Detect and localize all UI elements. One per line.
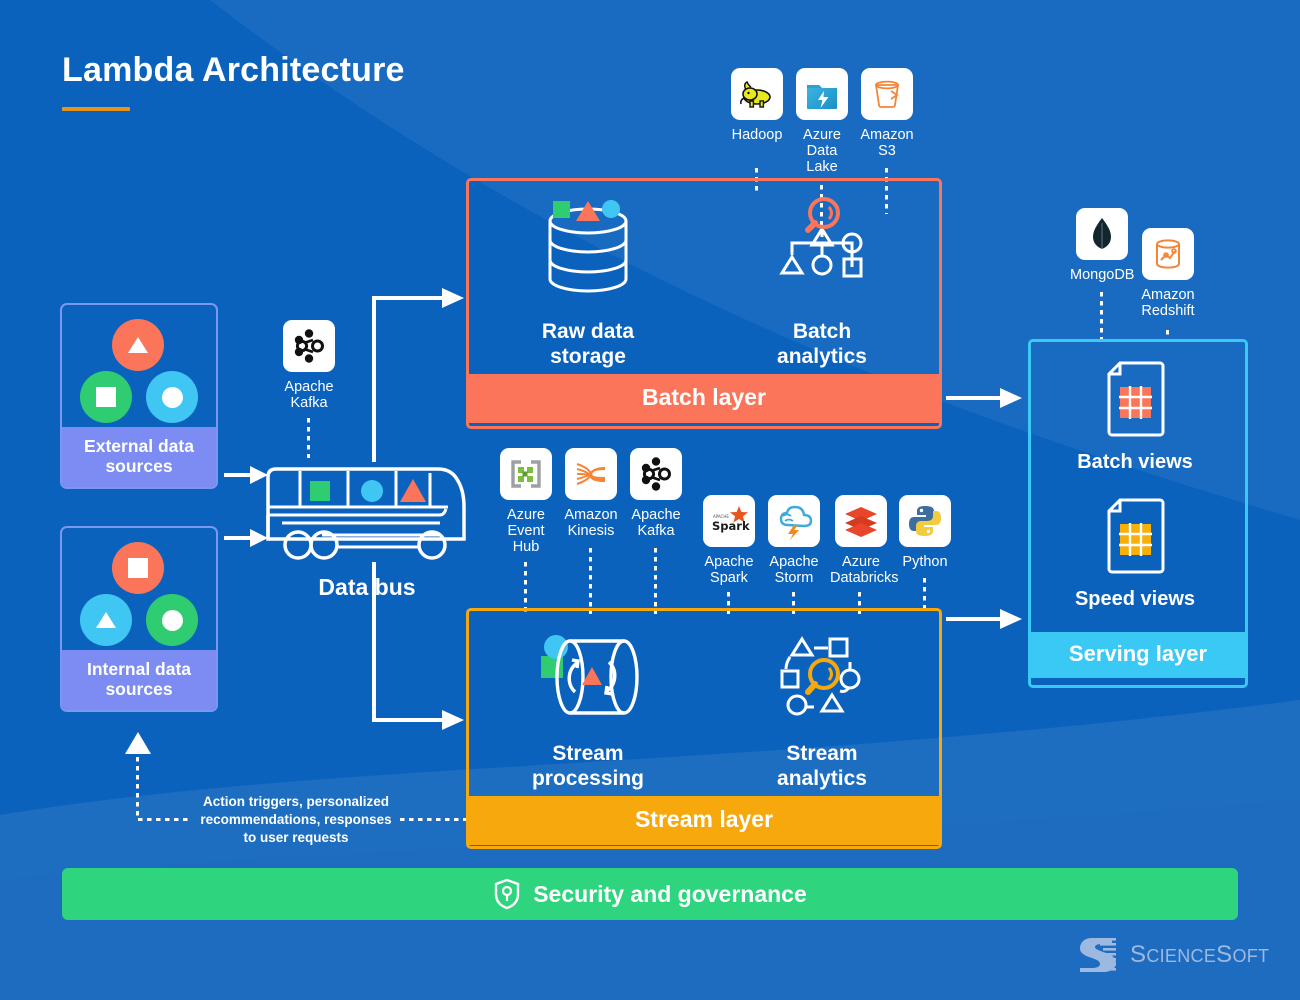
mongodb-icon (1076, 208, 1128, 260)
tech-apache-spark[interactable]: Spark APACHE Apache Spark (700, 495, 758, 586)
speed-views-label: Speed views (1031, 588, 1239, 611)
magnifier-shapes-icon (762, 627, 882, 727)
tech-label: Hadoop (726, 127, 788, 143)
tech-label: Amazon Kinesis (562, 507, 620, 539)
external-data-sources[interactable]: External data sources (60, 303, 218, 489)
connector-dotted (654, 548, 657, 614)
stream-analytics[interactable]: Stream analytics (717, 627, 927, 792)
internal-shapes (62, 528, 216, 650)
external-shapes (62, 305, 216, 427)
arrow-batch-to-serving (944, 385, 1024, 411)
shape-circle-cyan (146, 371, 198, 423)
shape-triangle-salmon (112, 319, 164, 371)
tech-label: Azure Data Lake (791, 127, 853, 176)
apache-spark-icon: Spark APACHE (703, 495, 755, 547)
hadoop-icon (731, 68, 783, 120)
batch-views[interactable]: Batch views (1031, 360, 1239, 474)
magnifier-tree-icon (767, 195, 877, 305)
tech-mongodb[interactable]: MongoDB (1070, 208, 1134, 283)
tech-label: Azure Event Hub (497, 507, 555, 556)
tech-apache-kafka-stream[interactable]: Apache Kafka (627, 448, 685, 539)
azure-databricks-icon (835, 495, 887, 547)
stream-layer: Stream processing (466, 608, 942, 849)
tech-label: Azure Databricks (830, 554, 892, 586)
svg-text:Spark: Spark (712, 519, 750, 533)
batch-views-label: Batch views (1031, 451, 1239, 474)
apache-kafka-icon (283, 320, 335, 372)
database-cylinder-icon (533, 195, 643, 305)
tech-label: Apache Spark (700, 554, 758, 586)
serving-layer: Batch views Speed views (1028, 339, 1248, 688)
python-icon (899, 495, 951, 547)
shape-triangle-cyan (80, 594, 132, 646)
shape-circle-green (146, 594, 198, 646)
batch-analytics[interactable]: Batch analytics (717, 195, 927, 370)
serving-layer-body: Batch views Speed views (1031, 342, 1245, 632)
stream-item-label: Stream processing (483, 742, 693, 792)
tech-python[interactable]: Python (896, 495, 954, 570)
internal-data-sources[interactable]: Internal data sources (60, 526, 218, 712)
azure-event-hub-icon (500, 448, 552, 500)
document-grid-salmon-icon (1104, 360, 1166, 438)
batch-item-label: Batch analytics (717, 320, 927, 370)
page-title-text: Lambda Architecture (62, 52, 405, 89)
connector-dotted (589, 548, 592, 614)
tech-label: Apache Kafka (281, 379, 337, 411)
batch-layer: Raw data storage Batch anal (466, 178, 942, 429)
cylinder-refresh-icon (528, 627, 648, 727)
arrow-stream-to-serving (944, 606, 1024, 632)
sciencesoft-mark-icon (1076, 933, 1120, 977)
security-and-governance-bar[interactable]: Security and governance (62, 868, 1238, 920)
amazon-kinesis-icon (565, 448, 617, 500)
tech-azure-event-hub[interactable]: Azure Event Hub (497, 448, 555, 556)
svg-text:APACHE: APACHE (713, 514, 729, 519)
tech-hadoop[interactable]: Hadoop (726, 68, 788, 143)
tech-amazon-redshift[interactable]: Amazon Redshift (1136, 228, 1200, 319)
arrow-bus-to-batch-layer (368, 284, 468, 464)
batch-raw-data-storage[interactable]: Raw data storage (483, 195, 693, 370)
tech-label: MongoDB (1070, 267, 1134, 283)
batch-item-label: Raw data storage (483, 320, 693, 370)
arrow-bus-to-stream-layer (368, 560, 468, 735)
title-underline (62, 107, 130, 111)
external-data-sources-label: External data sources (62, 427, 216, 487)
serving-layer-footer: Serving layer (1031, 632, 1245, 678)
tech-label: Amazon S3 (856, 127, 918, 159)
stream-layer-footer: Stream layer (469, 796, 939, 845)
tech-amazon-s3[interactable]: Amazon S3 (856, 68, 918, 159)
diagram-canvas: Lambda Architecture Hadoop (0, 0, 1300, 1000)
shield-lock-icon (493, 878, 521, 910)
batch-layer-footer: Batch layer (469, 374, 939, 423)
bus-icon (262, 455, 472, 565)
amazon-redshift-icon (1142, 228, 1194, 280)
azure-data-lake-icon (796, 68, 848, 120)
tech-azure-data-lake[interactable]: Azure Data Lake (791, 68, 853, 176)
speed-views[interactable]: Speed views (1031, 497, 1239, 611)
amazon-s3-icon (861, 68, 913, 120)
internal-data-sources-label: Internal data sources (62, 650, 216, 710)
apache-storm-icon (768, 495, 820, 547)
shape-square-salmon (112, 542, 164, 594)
tech-label: Python (896, 554, 954, 570)
batch-layer-body: Raw data storage Batch anal (469, 181, 939, 374)
apache-kafka-icon (630, 448, 682, 500)
tech-apache-kafka-bus[interactable]: Apache Kafka (281, 320, 337, 411)
stream-item-label: Stream analytics (717, 742, 927, 792)
connector-dotted (1100, 292, 1103, 340)
document-grid-amber-icon (1104, 497, 1166, 575)
connector-dotted (524, 562, 527, 614)
security-label: Security and governance (533, 881, 807, 908)
tech-amazon-kinesis[interactable]: Amazon Kinesis (562, 448, 620, 539)
feedback-dotted-vertical (136, 757, 139, 819)
tech-label: Amazon Redshift (1136, 287, 1200, 319)
connector-dotted (307, 418, 310, 458)
sciencesoft-wordmark: SCIENCESOFT (1130, 941, 1269, 969)
page-title: Lambda Architecture (62, 52, 405, 111)
tech-label: Apache Kafka (627, 507, 685, 539)
shape-square-green (80, 371, 132, 423)
stream-layer-body: Stream processing (469, 611, 939, 796)
stream-processing[interactable]: Stream processing (483, 627, 693, 792)
sciencesoft-logo[interactable]: SCIENCESOFT (1076, 933, 1269, 977)
feedback-label: Action triggers, personalized recommenda… (178, 793, 414, 846)
tech-apache-storm[interactable]: Apache Storm (765, 495, 823, 586)
tech-label: Apache Storm (765, 554, 823, 586)
tech-azure-databricks[interactable]: Azure Databricks (830, 495, 892, 586)
arrow-feedback-up (124, 732, 152, 756)
